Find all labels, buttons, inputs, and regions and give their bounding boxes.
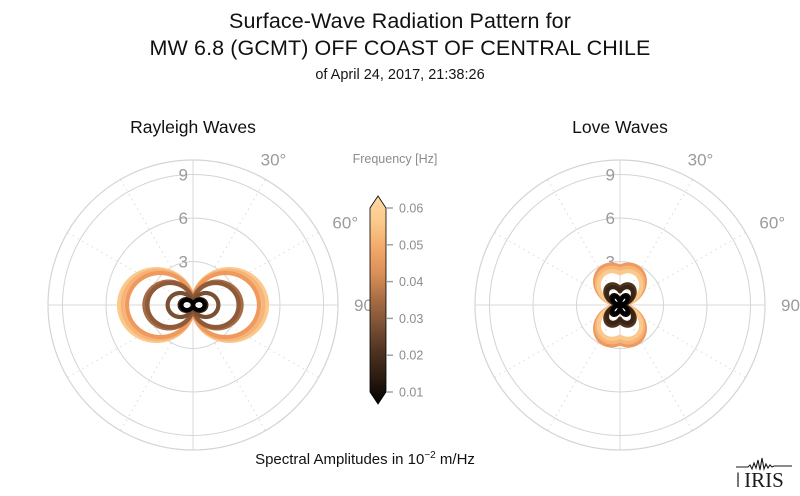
- love-curve-f0p01: [613, 296, 628, 313]
- caption-exponent: −2: [424, 450, 435, 461]
- rayleigh-polar-axes: 36930°60°90°: [48, 151, 380, 450]
- iris-logo: IRIS: [734, 456, 794, 492]
- figure-canvas: Surface-Wave Radiation Pattern for MW 6.…: [0, 0, 800, 496]
- love-angular-tick-60: 60°: [759, 214, 785, 233]
- love-radial-tick-9: 9: [606, 166, 615, 185]
- colorbar-tick-label-0.02: 0.02: [399, 349, 423, 363]
- rayleigh-radial-tick-3: 3: [179, 253, 188, 272]
- caption-suffix: m/Hz: [436, 451, 475, 468]
- iris-wordmark: IRIS: [744, 468, 784, 492]
- colorbar-tick-label-0.04: 0.04: [399, 275, 423, 289]
- love-angular-tick-30: 30°: [688, 151, 714, 170]
- colorbar[interactable]: 0.060.050.040.030.020.01: [352, 190, 462, 410]
- colorbar-tick-label-0.06: 0.06: [399, 202, 423, 216]
- rayleigh-radial-tick-6: 6: [179, 209, 188, 228]
- colorbar-gradient-bar[interactable]: [370, 196, 386, 404]
- rayleigh-angular-tick-30: 30°: [261, 151, 287, 170]
- caption-prefix: Spectral Amplitudes in 10: [255, 451, 424, 468]
- figure-caption: Spectral Amplitudes in 10−2 m/Hz: [0, 450, 730, 468]
- colorbar-tick-label-0.03: 0.03: [399, 312, 423, 326]
- love-radial-tick-6: 6: [606, 209, 615, 228]
- colorbar-tick-label-0.01: 0.01: [399, 386, 423, 400]
- colorbar-tick-label-0.05: 0.05: [399, 238, 423, 252]
- love-angular-tick-90: 90°: [781, 296, 800, 315]
- love-polar-axes: 36930°60°90°: [475, 151, 800, 450]
- rayleigh-radial-tick-9: 9: [179, 166, 188, 185]
- colorbar-title: Frequency [Hz]: [330, 152, 460, 166]
